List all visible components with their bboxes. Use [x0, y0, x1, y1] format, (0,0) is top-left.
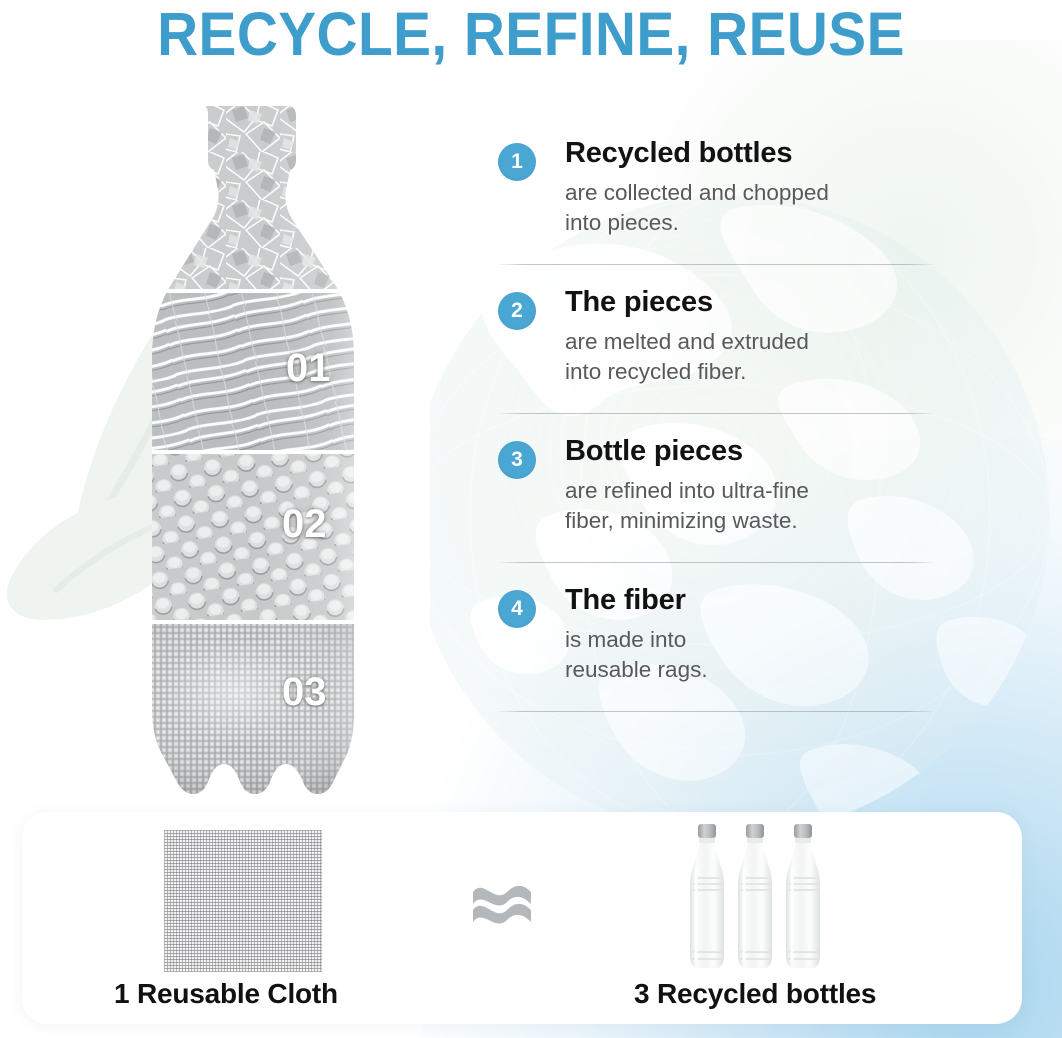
bottle-diagram: 01 02 03 04: [118, 104, 386, 810]
equivalence-right-label: 3 Recycled bottles: [634, 978, 876, 1010]
step-title-1: Recycled bottles: [565, 136, 934, 170]
step-body-2: are melted and extruded into recycled fi…: [565, 327, 934, 387]
equivalence-left-label: 1 Reusable Cloth: [114, 978, 338, 1010]
cloth-swatch-image: [164, 830, 322, 972]
step-title-3: Bottle pieces: [565, 434, 934, 468]
step-body-4: is made into reusable rags.: [565, 625, 934, 685]
step-title-2: The pieces: [565, 285, 934, 319]
step-item-4: 4 The fiber is made into reusable rags.: [498, 583, 934, 689]
step-divider-1: [498, 264, 934, 265]
step-divider-4: [498, 711, 934, 712]
step-number-badge-1: 1: [498, 143, 536, 181]
step-item-3: 3 Bottle pieces are refined into ultra-f…: [498, 434, 934, 540]
step-body-1: are collected and chopped into pieces.: [565, 178, 934, 238]
step-divider-3: [498, 562, 934, 563]
step-number-badge-3: 3: [498, 441, 536, 479]
step-title-4: The fiber: [565, 583, 934, 617]
step-body-3: are refined into ultra-fine fiber, minim…: [565, 476, 934, 536]
step-item-1: 1 Recycled bottles are collected and cho…: [498, 136, 934, 242]
equivalence-card: 1 Reusable Cloth 3 Recycled bottles: [22, 812, 1022, 1024]
step-divider-2: [498, 413, 934, 414]
poster-title: RECYCLE, REFINE, REUSE: [37, 2, 1025, 66]
step-item-2: 2 The pieces are melted and extruded int…: [498, 285, 934, 391]
infographic-poster: RECYCLE, REFINE, REUSE: [0, 0, 1062, 1038]
step-number-badge-4: 4: [498, 590, 536, 628]
step-number-badge-2: 2: [498, 292, 536, 330]
approximately-equal-icon: [467, 870, 537, 934]
recycled-bottles-image: [682, 820, 832, 978]
steps-list: 1 Recycled bottles are collected and cho…: [498, 136, 934, 732]
